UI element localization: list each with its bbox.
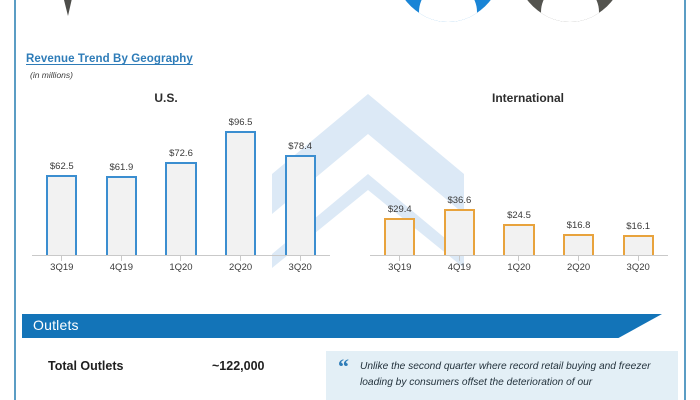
chart-panel-us: U.S. $62.5$61.9$72.6$96.5$78.4 3Q194Q191…: [20, 88, 340, 278]
bar-group-us: $62.5$61.9$72.6$96.5$78.4: [32, 114, 330, 256]
category-labels-us: 3Q194Q191Q202Q203Q20: [32, 262, 330, 276]
category-label: 3Q20: [274, 262, 326, 276]
chart-title-international: International: [368, 91, 688, 105]
outlets-banner: Outlets: [22, 314, 662, 338]
tick-slot: [215, 256, 267, 261]
bar-value-label: $36.6: [447, 195, 471, 206]
category-label: 1Q20: [493, 262, 545, 276]
bar: [106, 176, 137, 256]
tick-group-us: [32, 256, 330, 261]
bar: [563, 234, 594, 256]
category-label: 4Q19: [95, 262, 147, 276]
category-label: 4Q19: [433, 262, 485, 276]
kpi-delta: -1%: [275, 0, 297, 3]
category-label: 3Q19: [36, 262, 88, 276]
bar: [225, 131, 256, 256]
tick-group-international: [370, 256, 668, 261]
category-label: 3Q19: [374, 262, 426, 276]
category-label: 3Q20: [612, 262, 664, 276]
bar: [285, 155, 316, 256]
tick-mark: [638, 256, 639, 261]
tick-slot: [155, 256, 207, 261]
tick-slot: [274, 256, 326, 261]
down-trend-arrow-icon: [54, 0, 84, 16]
tick-mark: [240, 256, 241, 261]
category-label: 1Q20: [155, 262, 207, 276]
bar-value-label: $16.1: [626, 221, 650, 232]
tick-mark: [121, 256, 122, 261]
tick-slot: [95, 256, 147, 261]
tick-slot: [553, 256, 605, 261]
bar: [503, 224, 534, 256]
tick-mark: [300, 256, 301, 261]
bar: [46, 175, 77, 256]
bar-value-label: $61.9: [109, 162, 133, 173]
quote-text: Unlike the second quarter where record r…: [360, 359, 664, 391]
donut-hole-blue: [419, 0, 477, 22]
left-edge-rule: [14, 0, 16, 400]
tick-mark: [518, 256, 519, 261]
plot-area-international: $29.4$36.6$24.5$16.8$16.1: [370, 114, 668, 256]
donut-hole-grey: [541, 0, 599, 22]
tick-slot: [612, 256, 664, 261]
bar-slot: $16.1: [612, 114, 664, 256]
tick-mark: [459, 256, 460, 261]
bar: [444, 209, 475, 256]
right-edge-rule: [684, 0, 686, 400]
tick-mark: [61, 256, 62, 261]
bar-slot: $61.9: [95, 114, 147, 256]
tick-mark: [180, 256, 181, 261]
quote-mark-icon: “: [338, 356, 349, 378]
bar: [623, 235, 654, 256]
bar-value-label: $62.5: [50, 161, 74, 172]
bar-slot: $72.6: [155, 114, 207, 256]
bar-value-label: $96.5: [229, 117, 253, 128]
tick-mark: [578, 256, 579, 261]
revenue-section-subtitle: (in millions): [30, 70, 73, 80]
donut-chart-blue: [390, 0, 506, 22]
tick-slot: [493, 256, 545, 261]
infographic-page: Product Mix -1% Revenue Trend By Geograp…: [0, 0, 700, 400]
bar-slot: $96.5: [215, 114, 267, 256]
outlets-banner-title: Outlets: [33, 317, 79, 333]
category-labels-international: 3Q194Q191Q202Q203Q20: [370, 262, 668, 276]
kpi-label: Product Mix: [98, 0, 170, 3]
bar-slot: $16.8: [553, 114, 605, 256]
tick-slot: [374, 256, 426, 261]
tick-slot: [433, 256, 485, 261]
donut-chart-grey: [512, 0, 628, 22]
bar-slot: $29.4: [374, 114, 426, 256]
bar-slot: $24.5: [493, 114, 545, 256]
bar-value-label: $29.4: [388, 204, 412, 215]
chart-title-us: U.S.: [6, 91, 326, 105]
total-outlets-value: ~122,000: [212, 359, 264, 373]
top-kpi-strip: Product Mix -1%: [16, 0, 684, 22]
bar-value-label: $78.4: [288, 141, 312, 152]
bar: [165, 162, 196, 256]
tick-mark: [399, 256, 400, 261]
quote-card: “ Unlike the second quarter where record…: [326, 351, 678, 400]
tick-slot: [36, 256, 88, 261]
category-label: 2Q20: [553, 262, 605, 276]
bar-value-label: $72.6: [169, 148, 193, 159]
bar-slot: $36.6: [433, 114, 485, 256]
bar-slot: $62.5: [36, 114, 88, 256]
chart-panel-international: International $29.4$36.6$24.5$16.8$16.1 …: [358, 88, 678, 278]
bar-group-international: $29.4$36.6$24.5$16.8$16.1: [370, 114, 668, 256]
total-outlets-label: Total Outlets: [48, 359, 123, 373]
outlets-banner-background: [22, 314, 662, 338]
plot-area-us: $62.5$61.9$72.6$96.5$78.4: [32, 114, 330, 256]
bar-value-label: $16.8: [567, 220, 591, 231]
bar-value-label: $24.5: [507, 210, 531, 221]
revenue-section-title: Revenue Trend By Geography: [26, 53, 193, 65]
bar: [384, 218, 415, 256]
bar-slot: $78.4: [274, 114, 326, 256]
category-label: 2Q20: [215, 262, 267, 276]
